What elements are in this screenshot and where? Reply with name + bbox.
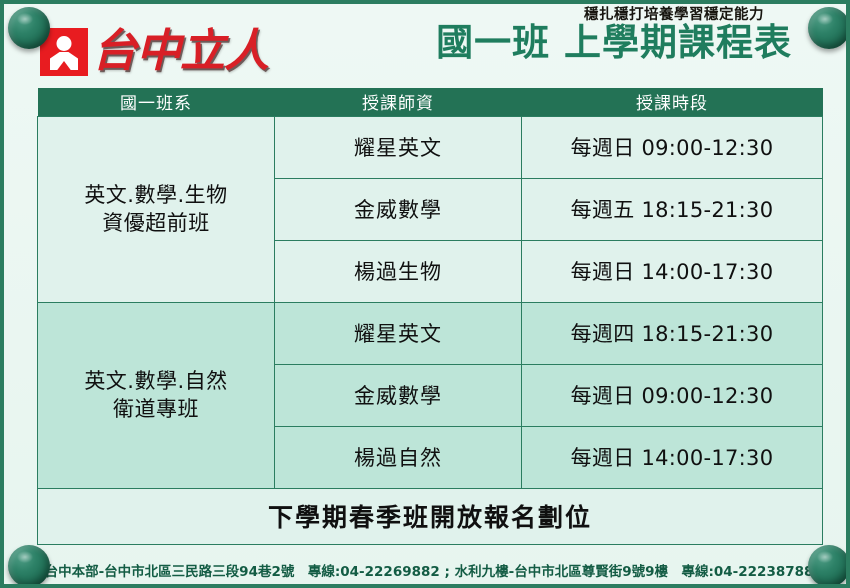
class-name-line-1: 英文.數學.生物	[84, 183, 227, 207]
title-block: 穩扎穩打培養學習穩定能力 國一班 上學期課程表	[436, 6, 792, 64]
person-head-shape	[57, 36, 72, 51]
timeslot-cell: 每週四 18:15-21:30	[522, 302, 823, 364]
table-header-row: 國一班系 授課師資 授課時段	[38, 88, 823, 116]
decorative-sphere-bottom-left	[8, 545, 50, 587]
notice-row: 下學期春季班開放報名劃位	[38, 488, 823, 544]
timeslot-cell: 每週日 14:00-17:30	[522, 426, 823, 488]
column-header-teacher: 授課師資	[275, 88, 522, 116]
teacher-cell: 金威數學	[275, 178, 522, 240]
teacher-cell: 金威數學	[275, 364, 522, 426]
poster-header: 台中立人 穩扎穩打培養學習穩定能力 國一班 上學期課程表	[4, 4, 850, 89]
teacher-cell: 耀星英文	[275, 116, 522, 178]
page-title: 國一班 上學期課程表	[436, 23, 792, 64]
teacher-cell: 楊過生物	[275, 240, 522, 302]
decorative-sphere-top-left	[8, 7, 50, 49]
timeslot-cell: 每週五 18:15-21:30	[522, 178, 823, 240]
decorative-sphere-top-right	[808, 7, 850, 49]
brand-logo: 台中立人	[40, 28, 268, 76]
decorative-sphere-bottom-right	[808, 545, 850, 587]
contact-footer: 台中本部-台中市北區三民路三段94巷2號 專線:04-22269882 ; 水利…	[4, 560, 850, 580]
class-name-line-1: 英文.數學.自然	[84, 369, 227, 393]
class-name-cell: 英文.數學.自然 衛道專班	[38, 302, 275, 488]
column-header-time: 授課時段	[522, 88, 823, 116]
class-name-cell: 英文.數學.生物 資優超前班	[38, 116, 275, 302]
column-header-class: 國一班系	[38, 88, 275, 116]
teacher-cell: 楊過自然	[275, 426, 522, 488]
course-schedule-table: 國一班系 授課師資 授課時段 英文.數學.生物 資優超前班 耀星英文 每週日 0…	[37, 88, 823, 545]
class-name-line-2: 衛道專班	[113, 397, 199, 421]
brand-wordmark: 台中立人	[92, 28, 268, 76]
timeslot-cell: 每週日 14:00-17:30	[522, 240, 823, 302]
timeslot-cell: 每週日 09:00-12:30	[522, 364, 823, 426]
teacher-cell: 耀星英文	[275, 302, 522, 364]
enrollment-notice: 下學期春季班開放報名劃位	[38, 488, 823, 544]
timeslot-cell: 每週日 09:00-12:30	[522, 116, 823, 178]
class-name-line-2: 資優超前班	[102, 211, 210, 235]
person-body-shape	[50, 52, 78, 70]
poster-frame: 台中立人 穩扎穩打培養學習穩定能力 國一班 上學期課程表 國一班系 授課師資 授…	[0, 0, 850, 588]
table-row[interactable]: 英文.數學.生物 資優超前班 耀星英文 每週日 09:00-12:30	[38, 116, 823, 178]
table-row[interactable]: 英文.數學.自然 衛道專班 耀星英文 每週四 18:15-21:30	[38, 302, 823, 364]
